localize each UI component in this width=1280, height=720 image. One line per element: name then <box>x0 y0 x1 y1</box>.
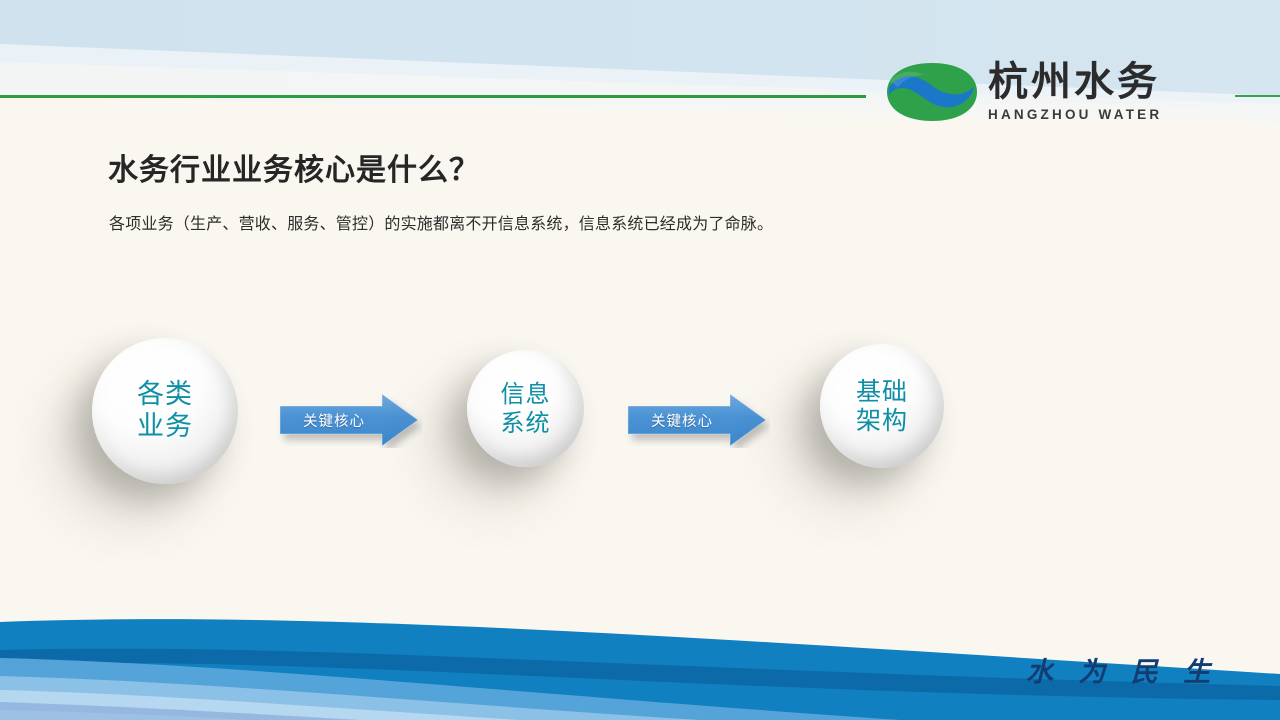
footer-slogan: 水 为 民 生 <box>1026 650 1218 689</box>
header-green-rule-right <box>1235 95 1280 97</box>
diagram-node-infrastructure[interactable]: 基础 架构 <box>820 344 944 468</box>
brand-logo-text: 杭州水务 HANGZHOU WATER <box>988 62 1162 122</box>
brand-logo: 杭州水务 HANGZHOU WATER <box>884 58 1214 126</box>
page-subtitle: 各项业务（生产、营收、服务、管控）的实施都离不开信息系统，信息系统已经成为了命脉… <box>109 210 773 234</box>
diagram-node-business[interactable]: 各类 业务 <box>92 338 238 484</box>
brand-name-en: HANGZHOU WATER <box>988 107 1162 122</box>
slide-canvas: 杭州水务 HANGZHOU WATER 水务行业业务核心是什么？ 各项业务（生产… <box>0 0 1280 720</box>
diagram-arrow-2: 关键核心 <box>626 392 770 448</box>
diagram-node-label: 信息 系统 <box>501 380 551 437</box>
water-wave-emblem-icon <box>884 61 980 123</box>
diagram-node-information-system[interactable]: 信息 系统 <box>467 350 584 467</box>
brand-name-cn: 杭州水务 <box>988 62 1162 102</box>
diagram-node-label: 基础 架构 <box>856 377 908 436</box>
header-green-rule-left <box>0 95 866 98</box>
process-diagram: 各类 业务 关键核心 信息 系统 <box>0 300 1280 580</box>
diagram-arrow-1: 关键核心 <box>278 392 422 448</box>
diagram-node-label: 各类 业务 <box>137 379 193 443</box>
page-title: 水务行业业务核心是什么？ <box>108 145 480 189</box>
